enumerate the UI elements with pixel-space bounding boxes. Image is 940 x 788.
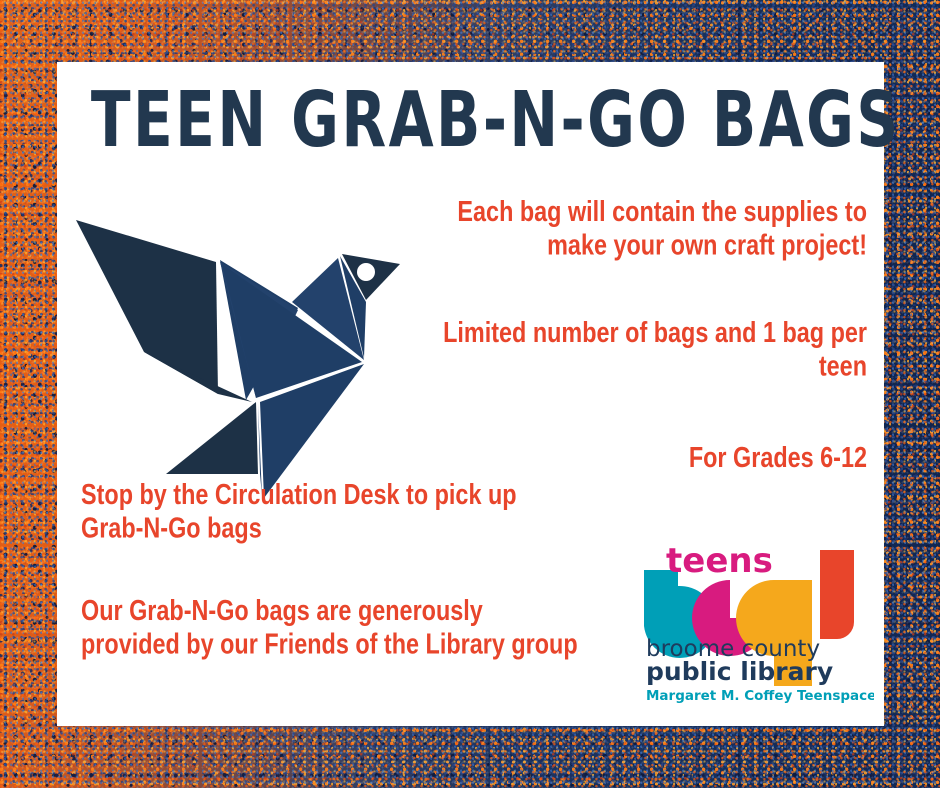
- origami-bird-icon: [70, 202, 400, 502]
- origami-bird-illustration: [70, 202, 400, 502]
- copy-limited: Limited number of bags and 1 bag per tee…: [417, 315, 867, 383]
- logo-tagline: Margaret M. Coffey Teenspace: [646, 688, 874, 704]
- logo-teens-word: teens: [666, 541, 773, 581]
- page-title: TEEN GRAB-N-GO BAGS: [91, 82, 857, 159]
- copy-supplies: Each bag will contain the supplies to ma…: [417, 194, 867, 262]
- logo-letter-l: [820, 550, 854, 639]
- bcpl-teens-logo: teens broome county public library Marga…: [634, 534, 874, 706]
- logo-line2: public library: [646, 657, 833, 686]
- bcpl-logo-icon: teens broome county public library Marga…: [634, 534, 874, 706]
- flyer-card: TEEN GRAB-N-GO BAGS: [57, 62, 884, 726]
- copy-pickup: Stop by the Circulation Desk to pick up …: [81, 477, 585, 545]
- copy-grades: For Grades 6-12: [417, 440, 867, 474]
- poster: TEEN GRAB-N-GO BAGS: [0, 0, 940, 788]
- copy-friends: Our Grab-N-Go bags are generously provid…: [81, 593, 585, 661]
